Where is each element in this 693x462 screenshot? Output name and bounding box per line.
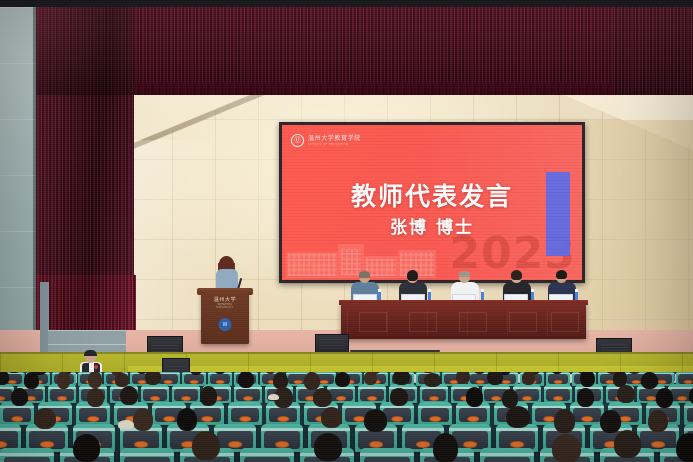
head-table xyxy=(341,303,586,339)
audience-member-head xyxy=(648,410,668,432)
podium-nameplate: 温州大学 WENZHOU UNIVERSITY xyxy=(210,297,240,309)
audience-member-head xyxy=(424,373,441,387)
screen-scanlines xyxy=(282,125,582,280)
audience-member-head xyxy=(73,434,100,462)
audience-member-head xyxy=(304,372,320,390)
audience-member-head xyxy=(115,373,129,387)
auditorium-seat[interactable] xyxy=(360,448,414,462)
audience-member-head xyxy=(433,433,458,462)
audience-member-head xyxy=(466,387,483,407)
university-emblem-icon: W xyxy=(219,318,232,331)
auditorium-seat[interactable] xyxy=(358,384,386,403)
audience-member-head xyxy=(238,372,254,388)
audience-member-head xyxy=(321,407,342,428)
audience-member-head xyxy=(577,388,594,407)
auditorium-seat[interactable] xyxy=(228,402,262,425)
audience-member-head xyxy=(87,388,104,407)
auditorium-seat[interactable] xyxy=(141,384,169,403)
audience-member-head xyxy=(393,372,410,385)
audience-member-head xyxy=(554,409,575,433)
auditorium-scene: 2023 Ⓤ 温州大学教育学院 SCHOOL OF EDUCATION 教师代表… xyxy=(0,0,693,462)
audience-member-head xyxy=(200,386,217,406)
audience-member-head xyxy=(313,388,332,407)
audience-member-head xyxy=(580,372,595,387)
curtain-sheen-top xyxy=(34,0,693,95)
audience-member-head xyxy=(192,431,220,460)
auditorium-seat[interactable] xyxy=(240,448,294,462)
audience-member-head xyxy=(552,434,581,462)
audience-member-head xyxy=(641,372,658,389)
audience-member-head xyxy=(335,372,350,387)
auditorium-seat[interactable] xyxy=(0,448,54,462)
audience-member-head xyxy=(600,410,621,433)
ceiling-trim xyxy=(0,0,693,7)
audience-member-cap xyxy=(118,420,134,429)
audience-member-head xyxy=(314,433,342,461)
audience-member-head xyxy=(364,372,377,385)
audience-member-head xyxy=(614,430,641,458)
auditorium-seat[interactable] xyxy=(684,402,693,425)
audience-member-head xyxy=(617,385,635,403)
auditorium-seat[interactable] xyxy=(480,448,534,462)
auditorium-seat[interactable] xyxy=(172,384,200,403)
audience-member-head xyxy=(133,408,153,431)
audience-member-cap xyxy=(268,394,279,400)
podium-name-en: WENZHOU UNIVERSITY xyxy=(210,303,240,309)
led-screen-surface: 2023 Ⓤ 温州大学教育学院 SCHOOL OF EDUCATION 教师代表… xyxy=(282,125,582,280)
audience-member-head xyxy=(456,372,470,384)
audience-member-head xyxy=(676,433,693,462)
audience-member-head xyxy=(364,409,387,432)
audience-member-head xyxy=(88,372,102,388)
audience-member-head xyxy=(24,372,39,389)
audience-member-head xyxy=(57,372,70,389)
audience-member-head xyxy=(522,372,535,385)
audience-member-head xyxy=(390,388,408,406)
auditorium-seat[interactable] xyxy=(544,384,572,403)
led-screen: 2023 Ⓤ 温州大学教育学院 SCHOOL OF EDUCATION 教师代表… xyxy=(279,122,585,283)
audience-member-head xyxy=(145,372,161,385)
stage-monitor-3 xyxy=(315,334,349,354)
auditorium-seat[interactable] xyxy=(418,402,452,425)
audience-member-head xyxy=(34,408,56,429)
audience-member-head xyxy=(177,408,197,431)
podium: 温州大学 WENZHOU UNIVERSITY W xyxy=(201,292,249,344)
audience-member-head xyxy=(120,386,138,405)
audience-member-head xyxy=(506,406,530,428)
audience-member-head xyxy=(11,388,28,406)
audience-member-head xyxy=(656,388,673,408)
auditorium-seat[interactable] xyxy=(120,448,174,462)
audience-member-head xyxy=(487,372,503,385)
audience-area xyxy=(0,372,693,462)
